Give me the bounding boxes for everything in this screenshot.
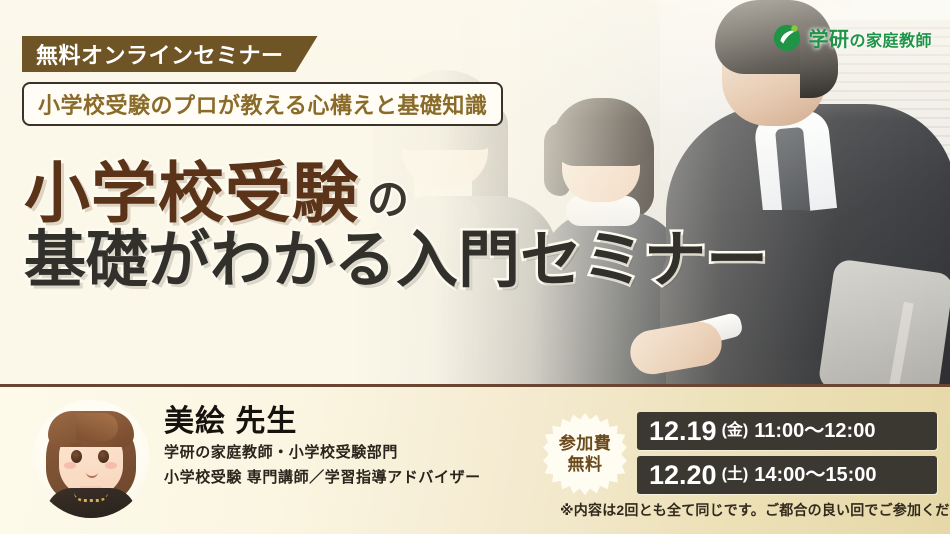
speaker-role: 小学校受験 専門講師／学習指導アドバイザー: [164, 467, 481, 490]
logo-text-sub: の家庭教師: [849, 33, 932, 50]
headline-second-text: 基礎がわかる入門セミナー: [24, 230, 768, 292]
brand-logo: 学研の家庭教師: [772, 22, 932, 52]
gakken-leaf-icon: [772, 22, 802, 52]
speaker-name: 美絵 先生: [164, 404, 481, 440]
session-time: 11:00〜12:00: [754, 421, 875, 441]
avatar-blush: [64, 462, 76, 469]
session-date: 12.20: [649, 462, 717, 489]
headline-particle: の: [367, 179, 409, 221]
section-divider: [0, 384, 950, 387]
headline-line-2: 基礎がわかる入門セミナー: [24, 230, 768, 292]
session-date: 12.19: [649, 418, 717, 445]
session-row-1: 12.19 (金) 11:00〜12:00: [637, 412, 937, 450]
speaker-info: 美絵 先生 学研の家庭教師・小学校受験部門 小学校受験 専門講師／学習指導アドバ…: [164, 404, 481, 489]
speaker-affiliation: 学研の家庭教師・小学校受験部門: [164, 442, 481, 465]
teacher-avatar: [32, 400, 150, 518]
fee-badge-line2: 無料: [568, 455, 603, 475]
fee-free-badge: 参加費 無料: [543, 412, 627, 496]
session-note: ※内容は2回とも全て同じです。ご都合の良い回でご参加ください。: [560, 500, 950, 520]
logo-text: 学研の家庭教師: [808, 23, 932, 52]
avatar-necklace: [74, 492, 108, 502]
avatar-eye: [71, 450, 82, 463]
logo-text-main: 学研: [808, 29, 849, 51]
session-day: (土): [722, 467, 749, 483]
headline-line-1: 小学校受験 の: [24, 160, 768, 226]
session-row-2: 12.20 (土) 14:00〜15:00: [637, 456, 937, 494]
session-time: 14:00〜15:00: [754, 465, 876, 485]
subtitle-text: 小学校受験のプロが教える心構えと基礎知識: [38, 88, 487, 120]
ribbon-label: 無料オンラインセミナー: [36, 38, 284, 70]
free-seminar-ribbon: 無料オンラインセミナー: [22, 36, 318, 72]
fee-badge-line1: 参加費: [559, 434, 612, 454]
session-day: (金): [722, 423, 749, 439]
subtitle-box: 小学校受験のプロが教える心構えと基礎知識: [22, 82, 503, 126]
session-list: 12.19 (金) 11:00〜12:00 12.20 (土) 14:00〜15…: [637, 412, 937, 500]
headline-main-text: 小学校受験: [24, 160, 359, 226]
avatar-eye: [98, 450, 109, 463]
fee-badge-text: 参加費 無料: [543, 412, 627, 496]
avatar-hair: [76, 413, 118, 441]
headline: 小学校受験 の 基礎がわかる入門セミナー: [24, 160, 768, 292]
seminar-banner: 学研の家庭教師 無料オンラインセミナー 小学校受験のプロが教える心構えと基礎知識…: [0, 0, 950, 534]
avatar-blush: [105, 462, 117, 469]
